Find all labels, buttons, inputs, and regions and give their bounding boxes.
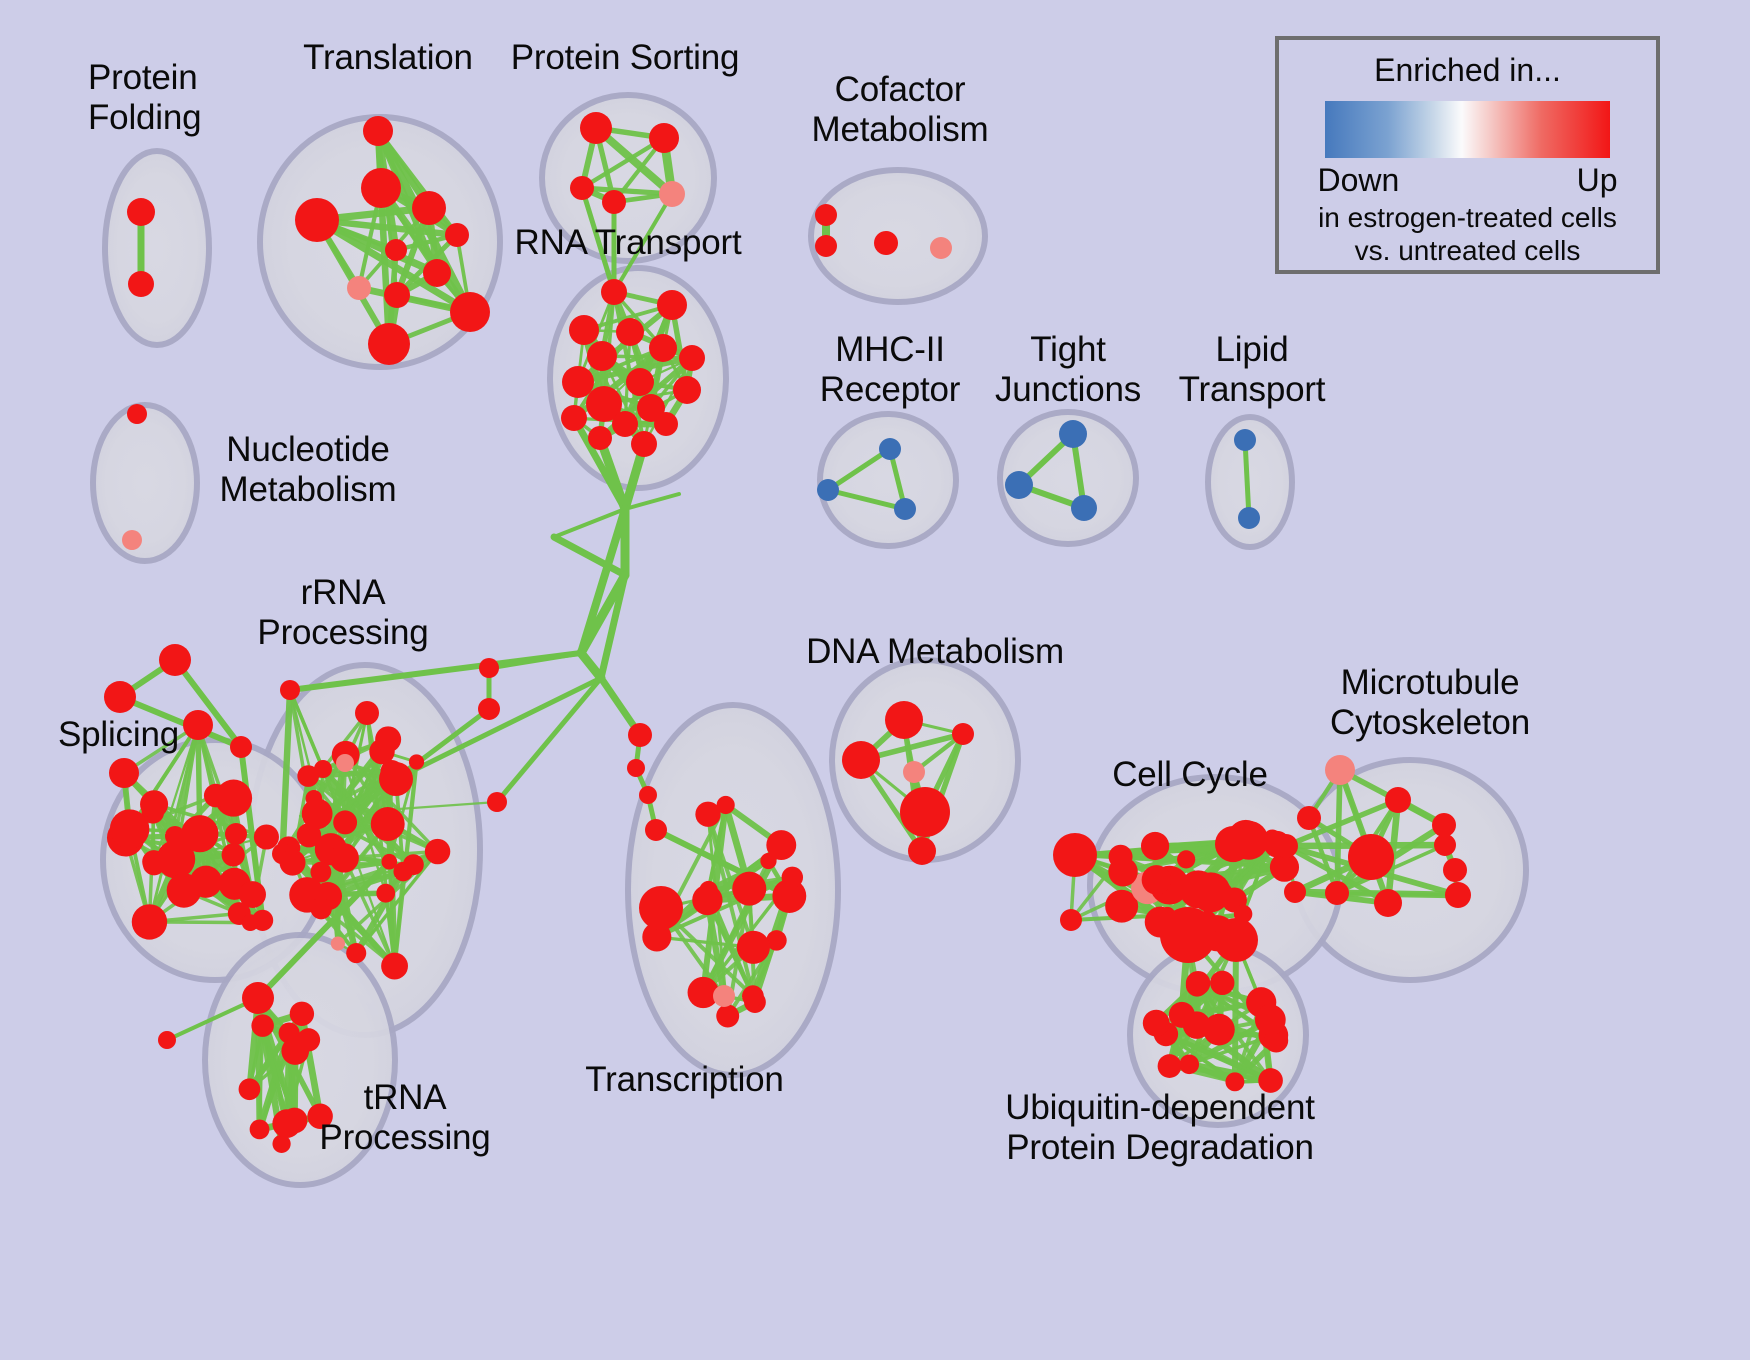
network-node [290,1002,314,1026]
network-edge [1295,892,1458,895]
network-node [1143,1010,1170,1037]
network-node [692,885,722,915]
network-node [815,235,837,257]
network-node [645,819,667,841]
network-node [649,334,677,362]
network-node [561,405,587,431]
network-node [225,823,247,845]
network-node [815,204,837,226]
cluster-label-protein-sorting: Protein Sorting [505,38,745,78]
network-node [673,376,701,404]
network-node [1060,909,1082,931]
network-node [242,914,259,931]
network-node [1142,865,1172,895]
cluster-label-protein-folding: Protein Folding [88,58,268,138]
network-node [1214,918,1258,962]
network-node [385,239,407,261]
network-node [628,723,652,747]
network-node [181,815,218,852]
network-node [222,843,245,866]
network-node [900,787,950,837]
network-node [930,237,952,259]
network-node [376,884,395,903]
network-node [842,741,880,779]
legend-subtitle: in estrogen-treated cells vs. untreated … [1279,201,1656,267]
network-node [1445,882,1471,908]
network-node [336,754,354,772]
network-node [347,276,371,300]
network-node [104,681,136,713]
network-node [331,936,345,950]
network-node [140,790,168,818]
network-node [282,1108,308,1134]
network-node [412,191,446,225]
cluster-label-dna-metabolism: DNA Metabolism [805,632,1065,672]
network-node [817,479,839,501]
network-node [310,898,331,919]
cluster-label-ubiquitin-protein-degradation: Ubiquitin-dependent Protein Degradation [990,1088,1330,1168]
network-node [1432,813,1456,837]
network-node [423,259,451,287]
network-node [782,867,803,888]
legend-title: Enriched in... [1279,52,1656,89]
cluster-label-rna-transport: RNA Transport [508,223,748,263]
network-node [1255,1005,1286,1036]
network-node [742,985,764,1007]
network-node [158,1031,176,1049]
network-node [587,341,617,371]
cluster-label-cofactor-metabolism: Cofactor Metabolism [800,70,1000,150]
cluster-label-splicing: Splicing [58,715,208,755]
network-node [128,271,154,297]
network-node [371,807,405,841]
network-node [204,784,228,808]
network-node [885,701,923,739]
network-node [1348,834,1394,880]
network-node [251,1014,274,1037]
network-node [346,943,366,963]
network-node [165,826,185,846]
network-node [297,823,321,847]
network-node [879,438,901,460]
network-node [1109,845,1133,869]
cluster-label-rrna-processing: rRNA Processing [248,573,438,653]
network-node [1160,907,1216,963]
network-node [659,181,685,207]
network-node [281,1037,309,1065]
network-node [1059,420,1087,448]
network-node [639,886,683,930]
legend-high-label: Up [1577,162,1618,199]
network-node [478,698,500,720]
network-node [445,223,469,247]
network-node [588,426,612,450]
network-node [894,498,916,520]
network-node [381,953,408,980]
network-node [250,1119,270,1139]
network-node [639,786,657,804]
network-node [479,658,499,678]
network-node [254,824,279,849]
cluster-label-transcription: Transcription [572,1060,797,1100]
network-node [1177,850,1195,868]
network-node [570,176,594,200]
network-node [766,830,796,860]
network-node [379,762,413,796]
network-node [1169,1002,1195,1028]
network-node [450,292,490,332]
network-node [679,345,705,371]
network-node [1215,826,1251,862]
cluster-label-microtubule-cytoskeleton: Microtubule Cytoskeleton [1305,663,1555,743]
network-node [333,810,357,834]
network-node [1005,471,1033,499]
cluster-ellipse [105,151,209,345]
network-node [127,404,147,424]
network-node [562,366,594,398]
network-node [409,754,424,769]
cluster-ellipse [93,405,197,561]
network-node [631,431,657,457]
network-node [1385,787,1411,813]
network-node [952,723,974,745]
network-node [384,282,410,308]
network-node [1191,872,1231,912]
network-node [627,759,645,777]
network-node [1284,881,1306,903]
network-node [716,1005,739,1028]
legend-low-label: Down [1318,162,1400,199]
network-node [110,809,150,849]
cluster-label-trna-processing: tRNA Processing [310,1078,500,1158]
network-node [1238,507,1260,529]
network-node [612,411,638,437]
network-node [1325,755,1355,785]
network-node [717,796,735,814]
network-node [737,931,770,964]
network-node [109,758,139,788]
network-node [368,323,410,365]
network-node [1374,889,1402,917]
network-node [1186,974,1209,997]
cluster-label-nucleotide-metabolism: Nucleotide Metabolism [198,430,418,510]
network-node [239,1078,261,1100]
legend-colorbar [1325,101,1610,158]
cluster-label-tight-junctions: Tight Junctions [982,330,1154,410]
network-node [1179,1055,1199,1075]
network-node [280,850,306,876]
network-node [616,318,644,346]
network-node [230,736,252,758]
network-node [375,726,401,752]
network-node [425,839,450,864]
network-node [363,116,393,146]
network-node [487,792,507,812]
network-node [1325,881,1349,905]
network-node [159,644,191,676]
network-node [1071,495,1097,521]
network-node [127,198,155,226]
network-node [329,847,346,864]
network-node [1158,1054,1182,1078]
network-node [649,123,679,153]
cluster-ellipse [811,170,985,302]
network-node [1443,858,1467,882]
network-node [403,854,424,875]
network-node [355,701,379,725]
network-node [361,168,401,208]
cluster-label-mhc-ii-receptor: MHC-II Receptor [800,330,980,410]
legend-endpoints: Down Up [1318,162,1618,199]
network-node [908,837,936,865]
network-node [713,985,735,1007]
network-node [280,680,300,700]
network-node [569,315,599,345]
network-node [626,368,654,396]
network-node [310,862,331,883]
network-node [874,231,898,255]
network-node [1053,833,1097,877]
cluster-label-lipid-transport: Lipid Transport [1168,330,1336,410]
legend: Enriched in... Down Up in estrogen-treat… [1275,36,1660,274]
network-node [1141,832,1169,860]
network-node [654,412,678,436]
network-node [122,530,142,550]
network-node [190,866,222,898]
network-node [601,279,627,305]
network-node [580,112,612,144]
network-node [732,872,766,906]
cluster-label-translation: Translation [288,38,488,78]
network-node [1274,834,1298,858]
network-node [295,198,339,242]
network-node [903,761,925,783]
network-figure: Protein Folding Translation Protein Sort… [0,0,1750,1360]
network-node [1210,971,1234,995]
network-node [1234,429,1256,451]
network-node [602,190,626,214]
network-node [132,904,167,939]
network-node [242,982,274,1014]
network-node [314,760,332,778]
network-node [657,290,687,320]
cluster-label-cell-cycle: Cell Cycle [1100,755,1280,795]
network-node [1297,806,1321,830]
network-node [1434,834,1456,856]
